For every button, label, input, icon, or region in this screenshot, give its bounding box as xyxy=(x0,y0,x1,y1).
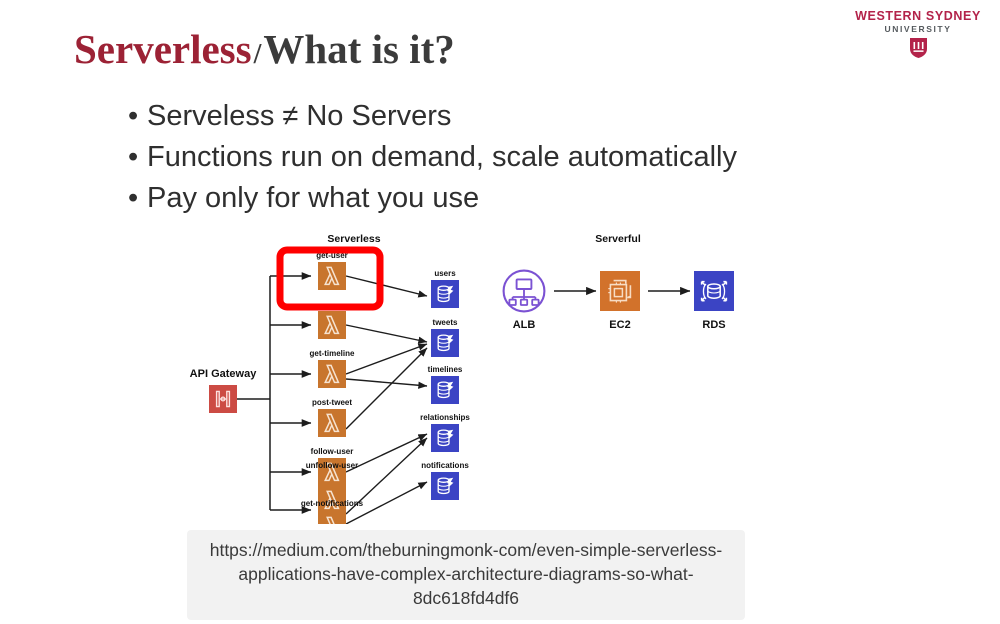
lambda-label: get-notifications xyxy=(301,499,364,508)
database-label: users xyxy=(434,269,456,278)
lambda-icon xyxy=(318,512,346,524)
bullet-list: •Serveless ≠ No Servers •Functions run o… xyxy=(128,96,918,219)
lambda-icon xyxy=(318,311,346,339)
lambda-column: get-user get-timeline post-tweet follow-… xyxy=(301,251,364,524)
bullet-marker: • xyxy=(128,178,147,219)
api-gateway-label: API Gateway xyxy=(190,368,258,380)
database-label: tweets xyxy=(433,318,458,327)
database-node: users xyxy=(431,269,459,308)
ec2-label: EC2 xyxy=(609,319,630,331)
wsu-shield-icon xyxy=(909,37,928,59)
rds-label: RDS xyxy=(702,319,725,331)
page-title: Serverless/What is it? xyxy=(74,28,455,71)
gateway-bus-lines xyxy=(237,276,311,510)
architecture-diagram: Serverless Serverful API Gateway xyxy=(0,224,1000,524)
alb-node: ALB xyxy=(504,271,545,331)
database-node: tweets xyxy=(431,318,459,357)
database-node: notifications xyxy=(421,461,469,500)
serverful-section-heading: Serverful xyxy=(595,233,641,245)
lambda-node xyxy=(318,311,346,339)
lambda-label: post-tweet xyxy=(312,398,352,407)
database-column: users tweets timelines relationships not… xyxy=(420,269,470,500)
dynamodb-icon xyxy=(431,329,459,357)
ec2-node: EC2 xyxy=(600,271,640,331)
lambda-icon xyxy=(318,360,346,388)
database-label: relationships xyxy=(420,413,470,422)
ec2-icon xyxy=(600,271,640,311)
database-node: timelines xyxy=(428,365,463,404)
lambda-to-database-links xyxy=(346,276,427,524)
alb-label: ALB xyxy=(513,319,536,331)
bullet-item: •Serveless ≠ No Servers xyxy=(128,96,918,137)
source-url-caption: https://medium.com/theburningmonk-com/ev… xyxy=(187,530,745,620)
bullet-text: Pay only for what you use xyxy=(147,182,479,214)
bullet-item: •Pay only for what you use xyxy=(128,178,918,219)
page-title-separator: / xyxy=(252,39,264,70)
dynamodb-icon xyxy=(431,280,459,308)
serverless-section-heading: Serverless xyxy=(327,233,380,245)
lambda-icon xyxy=(318,262,346,290)
lambda-node: post-tweet xyxy=(312,398,352,437)
dynamodb-icon xyxy=(431,424,459,452)
bullet-text: Functions run on demand, scale automatic… xyxy=(147,141,737,173)
alb-icon xyxy=(504,271,545,312)
rds-node: RDS xyxy=(694,271,734,331)
bullet-item: •Functions run on demand, scale automati… xyxy=(128,137,918,178)
bullet-marker: • xyxy=(128,96,147,137)
database-label: notifications xyxy=(421,461,469,470)
dynamodb-icon xyxy=(431,376,459,404)
dynamodb-icon xyxy=(431,472,459,500)
bullet-text: Serveless ≠ No Servers xyxy=(147,100,451,132)
api-gateway-icon xyxy=(209,385,237,413)
api-gateway-node: API Gateway xyxy=(190,368,258,413)
lambda-label: unfollow-user xyxy=(306,461,358,470)
bullet-marker: • xyxy=(128,137,147,178)
lambda-node: get-timeline xyxy=(310,349,355,388)
database-node: relationships xyxy=(420,413,470,452)
lambda-node: get-user xyxy=(316,251,348,290)
university-logo: WESTERN SYDNEY UNIVERSITY xyxy=(850,10,986,63)
brand-name-line1: WESTERN SYDNEY xyxy=(850,10,986,23)
serverful-chain: ALB EC2 RDS xyxy=(504,271,734,331)
slide-canvas: WESTERN SYDNEY UNIVERSITY Serverless/Wha… xyxy=(0,0,1000,624)
page-title-main: Serverless xyxy=(74,26,252,72)
brand-name-line2: UNIVERSITY xyxy=(850,25,986,34)
rds-icon xyxy=(694,271,734,311)
lambda-icon xyxy=(318,409,346,437)
lambda-label: follow-user xyxy=(311,447,354,456)
page-title-sub: What is it? xyxy=(263,26,454,72)
database-label: timelines xyxy=(428,365,463,374)
lambda-label: get-timeline xyxy=(310,349,355,358)
